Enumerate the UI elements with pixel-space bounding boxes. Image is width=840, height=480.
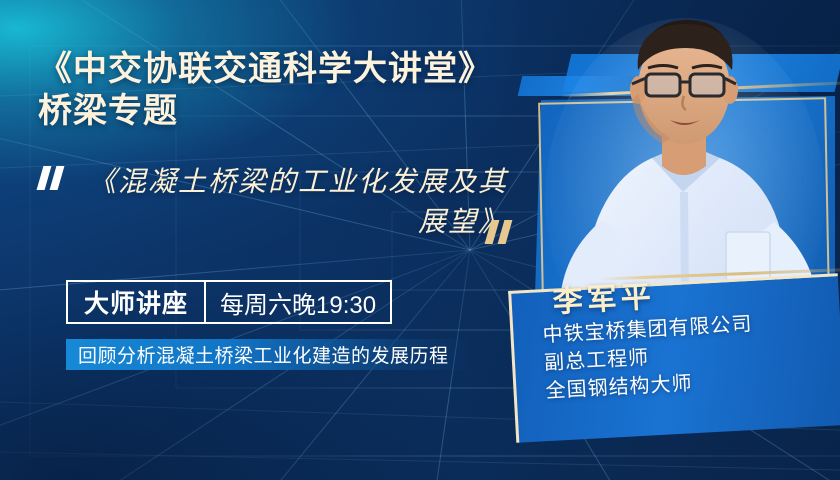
quote-close-icon — [488, 220, 514, 244]
schedule-box: 大师讲座 每周六晚19:30 — [66, 280, 392, 324]
page-title: 《中交协联交通科学大讲堂》 桥梁专题 — [38, 48, 558, 132]
schedule-label: 大师讲座 — [68, 282, 204, 322]
speaker-details: 李军平 中铁宝桥集团有限公司 副总工程师 全国钢结构大师 — [534, 269, 840, 406]
tagline-bar: 回顾分析混凝土桥梁工业化建造的发展历程 — [66, 339, 470, 370]
quote-open-icon — [40, 166, 66, 190]
schedule-time: 每周六晚19:30 — [206, 282, 390, 322]
topic-title: 《混凝土桥梁的工业化发展及其展望》 — [88, 162, 508, 242]
headline-line-2: 桥梁专题 — [38, 90, 558, 132]
topic-block: 《混凝土桥梁的工业化发展及其展望》 — [36, 162, 536, 266]
poster-canvas: 《中交协联交通科学大讲堂》 桥梁专题 《混凝土桥梁的工业化发展及其展望》 大师讲… — [0, 0, 840, 480]
headline-line-1: 《中交协联交通科学大讲堂》 — [38, 50, 493, 88]
